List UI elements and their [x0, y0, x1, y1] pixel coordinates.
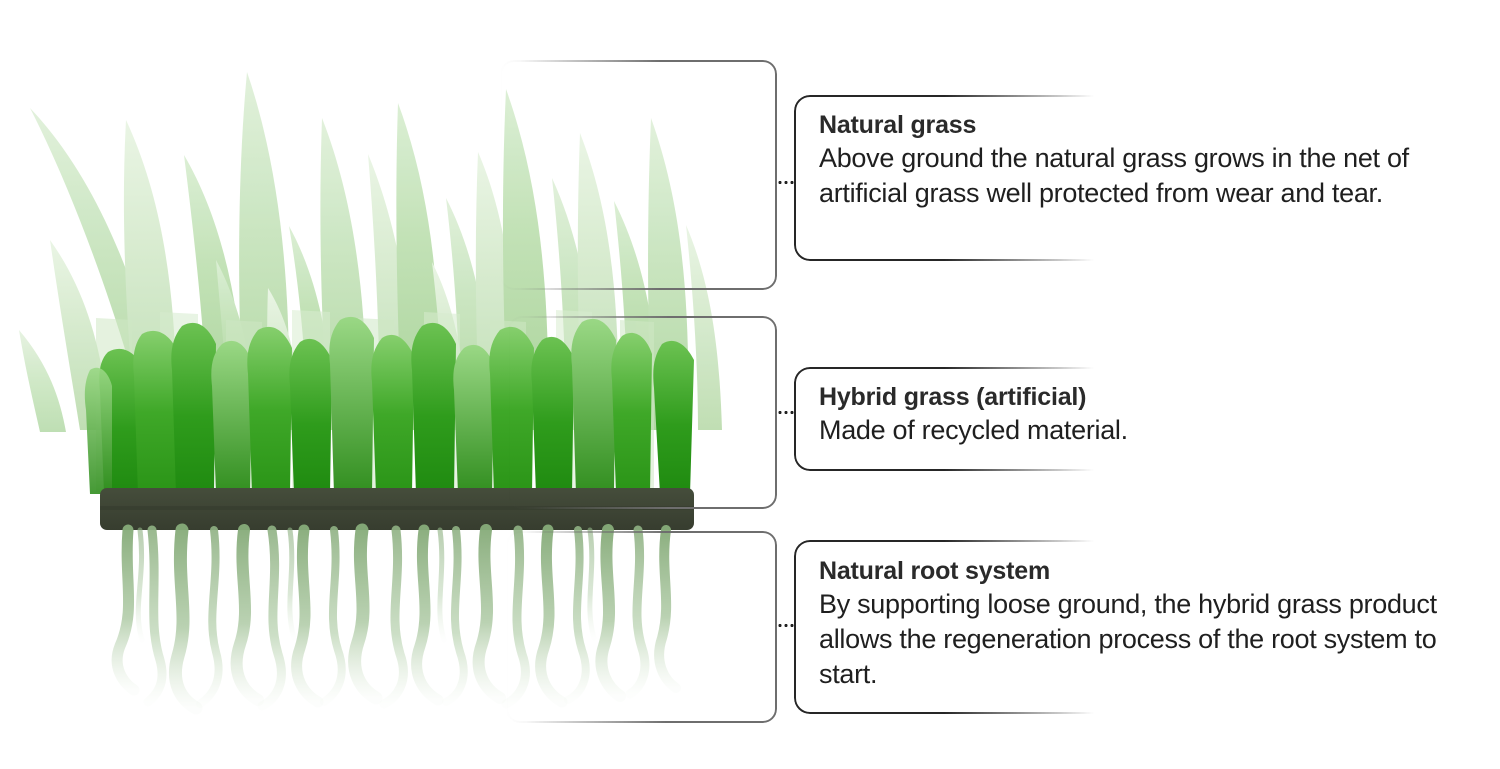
callout-title-root-system: Natural root system [819, 556, 1479, 586]
callout-root-system: Natural root system By supporting loose … [819, 556, 1479, 692]
connector-hybrid-grass [777, 411, 795, 414]
callout-body-natural-grass: Above ground the natural grass grows in … [819, 141, 1479, 211]
connector-root-system [777, 624, 795, 627]
callout-title-natural-grass: Natural grass [819, 110, 1479, 140]
bracket-hybrid-grass [508, 316, 777, 509]
callout-body-hybrid-grass: Made of recycled material. [819, 413, 1479, 448]
callout-natural-grass: Natural grass Above ground the natural g… [819, 110, 1479, 211]
connector-natural-grass [777, 181, 795, 184]
bracket-natural-grass [500, 60, 777, 290]
callout-body-root-system: By supporting loose ground, the hybrid g… [819, 587, 1479, 692]
callout-hybrid-grass: Hybrid grass (artificial) Made of recycl… [819, 382, 1479, 448]
bracket-root-system [506, 531, 777, 723]
callout-title-hybrid-grass: Hybrid grass (artificial) [819, 382, 1479, 412]
diagram-canvas: Natural grass Above ground the natural g… [0, 0, 1500, 769]
